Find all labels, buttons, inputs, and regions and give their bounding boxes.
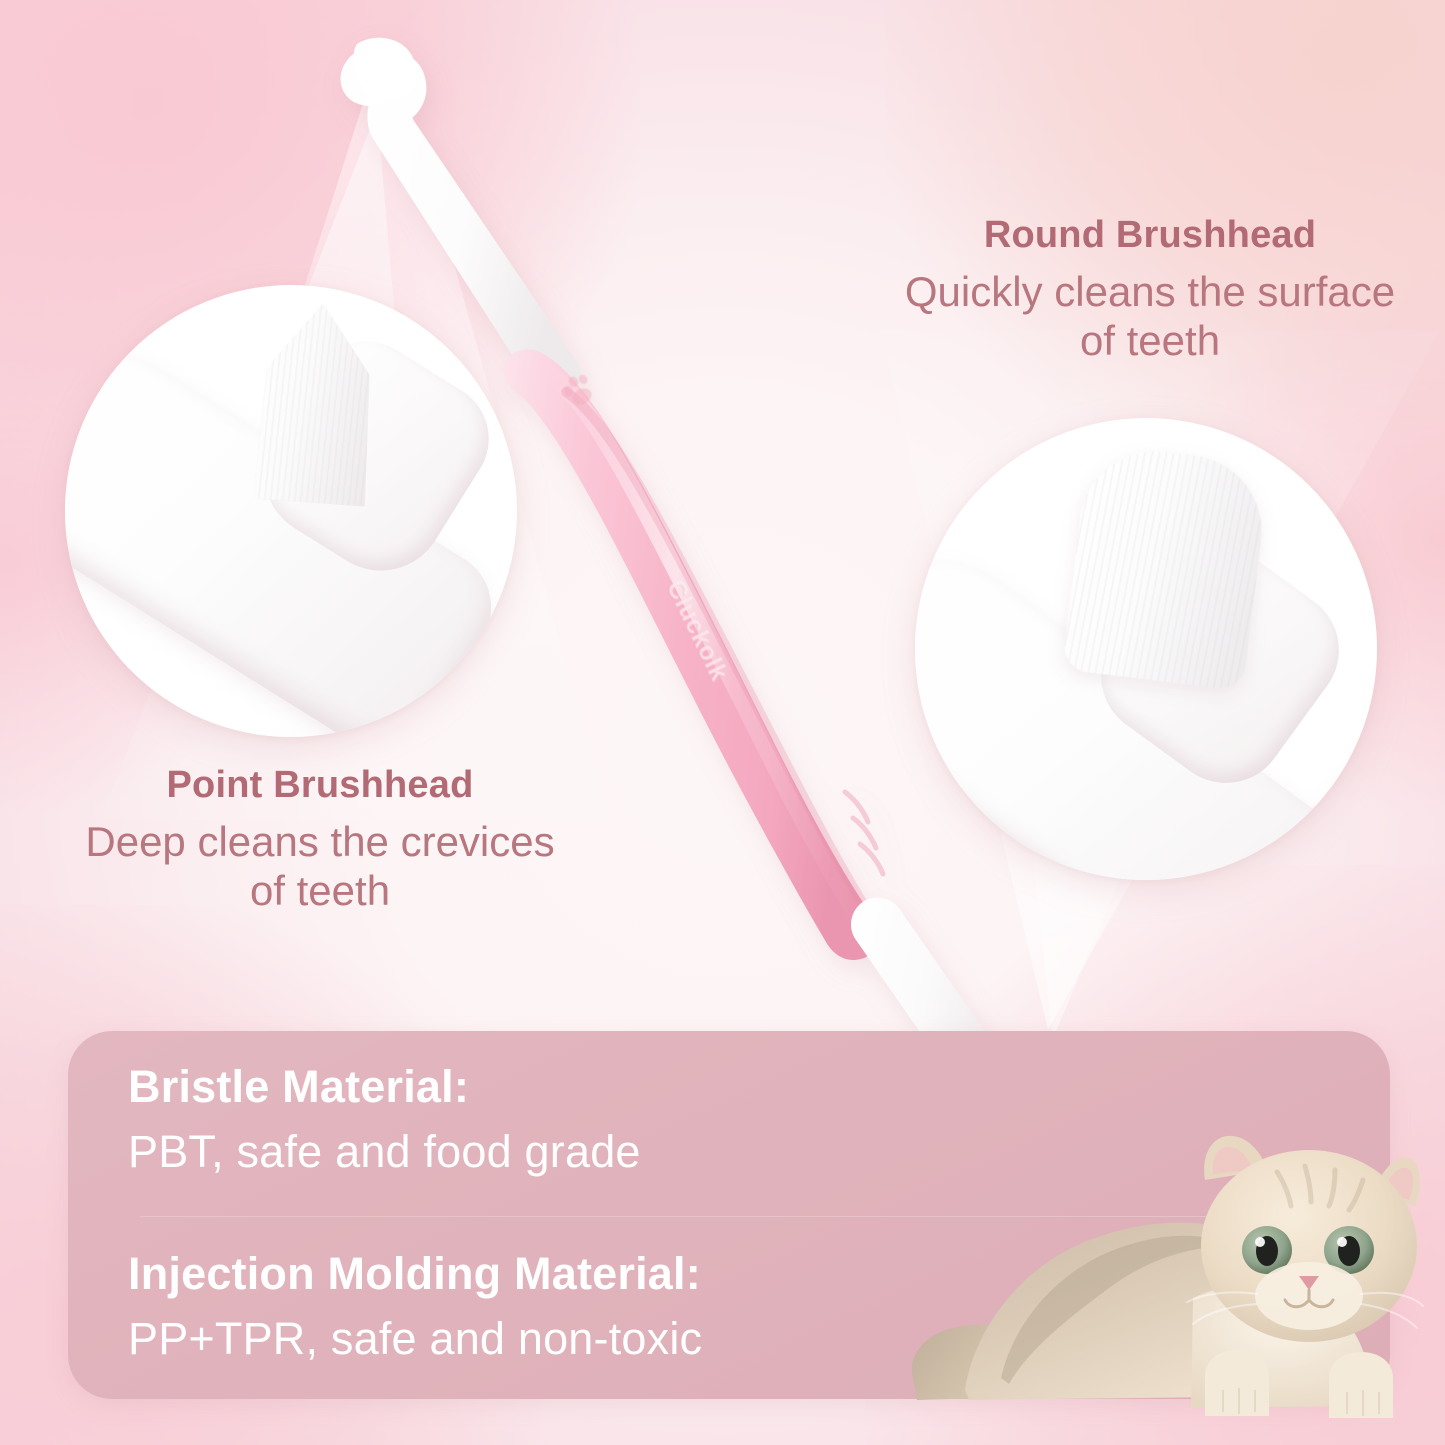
callout-round-body-line-1: Quickly cleans the surface xyxy=(855,267,1445,317)
callout-point-body-line-2: of teeth xyxy=(25,866,615,916)
bristle-fibers xyxy=(253,299,379,506)
callout-point-body: Deep cleans the crevices of teeth xyxy=(25,817,615,916)
cat-photo xyxy=(905,1128,1425,1445)
point-bristle-tuft xyxy=(253,299,379,506)
cat-eye-highlight-right xyxy=(1337,1237,1347,1247)
injection-material-label: Injection Molding Material: xyxy=(128,1250,702,1297)
cat-eye-highlight-left xyxy=(1255,1237,1265,1247)
callout-point-brushhead: Point Brushhead Deep cleans the crevices… xyxy=(25,765,615,916)
callout-round-title: Round Brushhead xyxy=(855,215,1445,257)
bristle-material-label: Bristle Material: xyxy=(128,1063,641,1110)
material-item-injection: Injection Molding Material: PP+TPR, safe… xyxy=(128,1250,702,1363)
bristle-fibers xyxy=(1062,443,1270,691)
round-bristle-tuft xyxy=(1062,443,1270,691)
callout-round-body-line-2: of teeth xyxy=(855,316,1445,366)
callout-point-body-line-1: Deep cleans the crevices xyxy=(25,817,615,867)
cat-paw-right xyxy=(1329,1352,1393,1418)
magnifier-point-brushhead xyxy=(65,285,517,737)
callout-round-brushhead: Round Brushhead Quickly cleans the surfa… xyxy=(855,215,1445,366)
callout-point-title: Point Brushhead xyxy=(25,765,615,807)
infographic-canvas: Cluckolk Round Brushhead Quickly cleans … xyxy=(0,0,1445,1445)
magnifier-round-brushhead xyxy=(915,418,1377,880)
injection-material-value: PP+TPR, safe and non-toxic xyxy=(128,1315,702,1362)
callout-round-body: Quickly cleans the surface of teeth xyxy=(855,267,1445,366)
material-item-bristle: Bristle Material: PBT, safe and food gra… xyxy=(128,1063,641,1176)
cat-paw-left xyxy=(1205,1350,1269,1416)
bristle-material-value: PBT, safe and food grade xyxy=(128,1128,641,1175)
